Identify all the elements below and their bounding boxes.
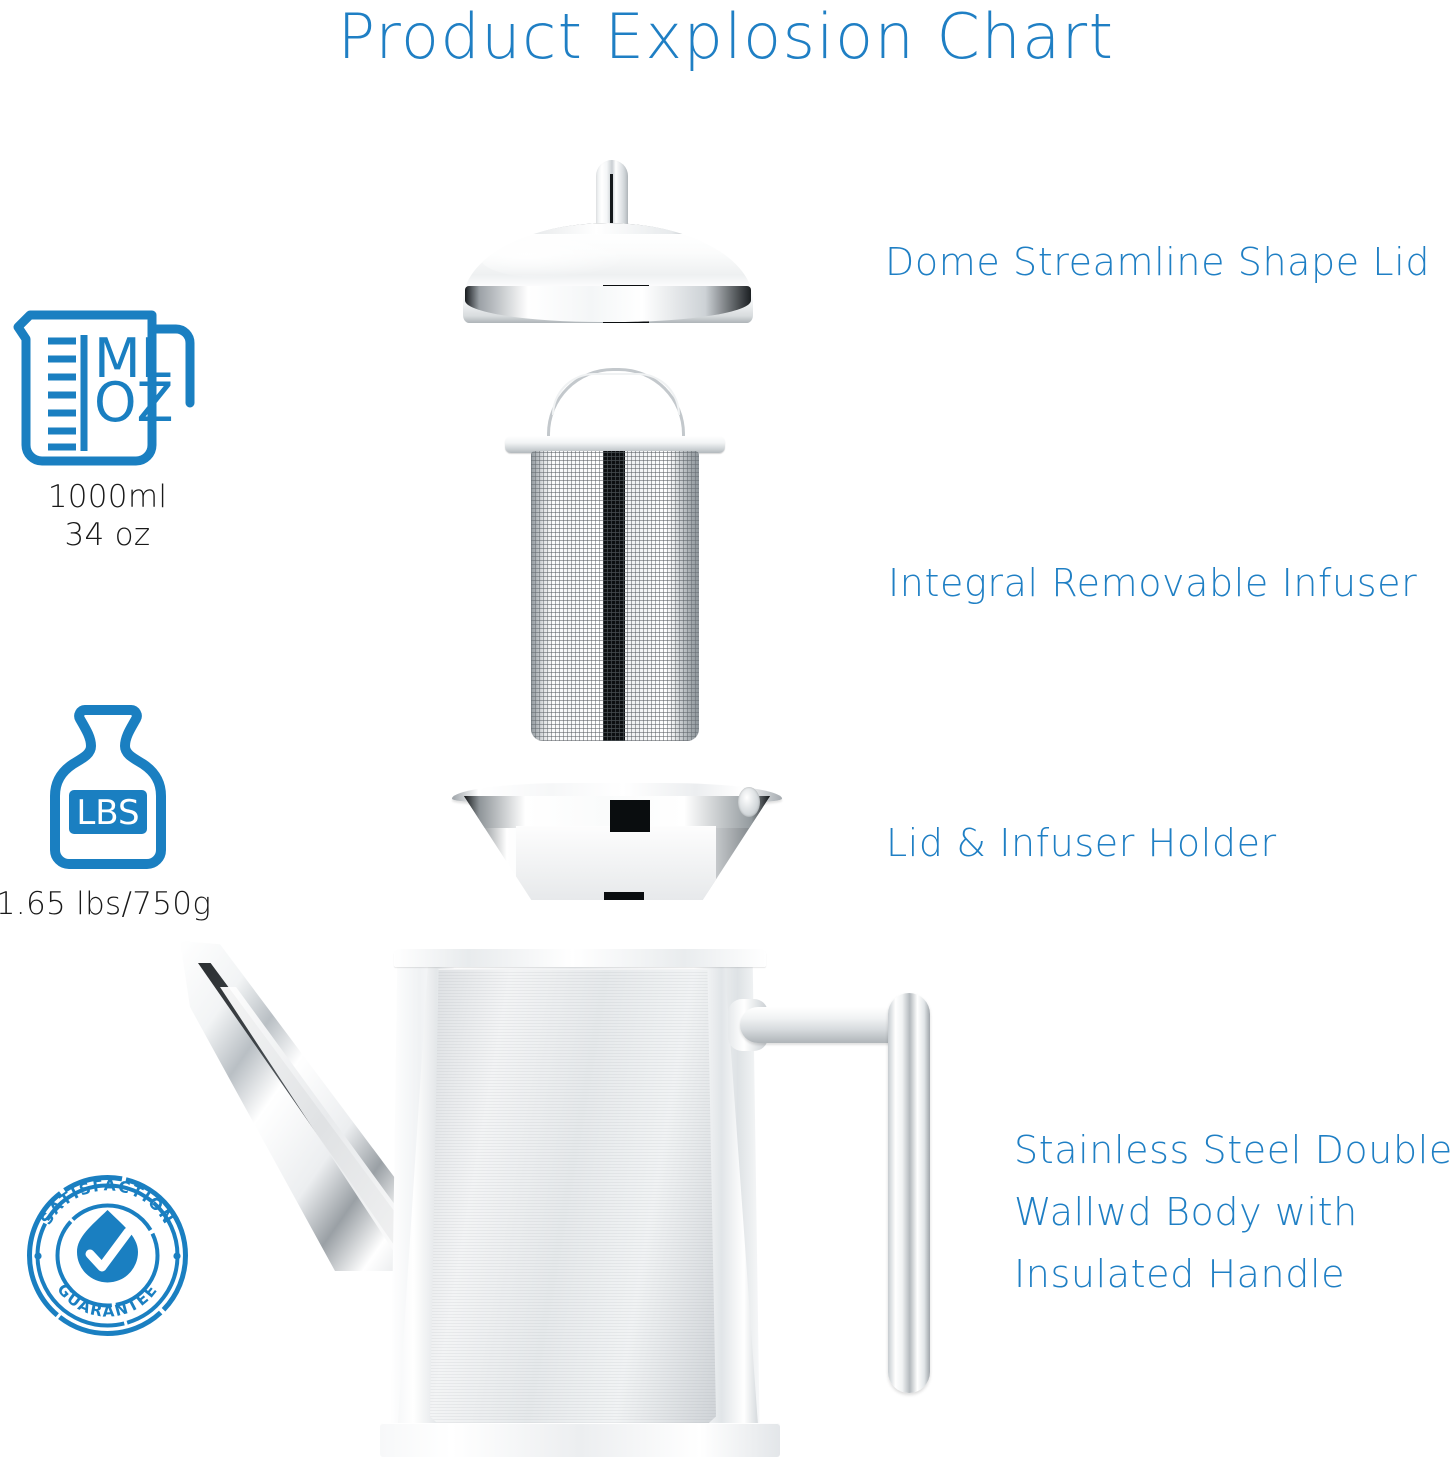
spec-weight: LBS 1.65 lbs/750g — [0, 690, 215, 923]
spec-volume-value-2: 34 oz — [0, 516, 215, 554]
holder-bottom-dark-reflection — [604, 892, 644, 900]
product-explosion-chart: Product Explosion Chart ML — [0, 0, 1452, 1457]
lid-dome-highlight — [481, 239, 631, 279]
holder-matte-inner — [516, 826, 716, 900]
kettle-handle-grip-bar — [888, 993, 930, 1393]
measuring-cup-icon-wrap: ML OZ — [0, 288, 215, 478]
callout-label-holder: Lid & Infuser Holder — [886, 821, 1277, 865]
holder-side-knob — [738, 787, 760, 817]
infuser-mesh-basket — [531, 451, 699, 741]
callout-label-infuser: Integral Removable Infuser — [888, 561, 1417, 605]
callout-label-body-line3: Insulated Handle — [1014, 1243, 1452, 1305]
spec-volume-value-1: 1000ml — [0, 478, 215, 516]
guarantee-droplet-shape — [77, 1210, 138, 1282]
product-part-lid-infuser-holder — [452, 783, 782, 908]
kettle-base-rim — [380, 1423, 780, 1457]
satisfaction-guarantee-badge: SATISFACTION GUARANTEE — [20, 1168, 195, 1343]
holder-dark-reflection — [610, 800, 650, 832]
callout-label-body-line1: Stainless Steel Double — [1014, 1119, 1452, 1181]
lid-dome-rim-reflection — [463, 223, 753, 234]
weight-icon: LBS — [33, 698, 183, 878]
callout-label-dome-lid: Dome Streamline Shape Lid — [885, 240, 1430, 284]
spec-weight-value-1: 1.65 lbs/750g — [0, 885, 215, 923]
product-part-removable-infuser — [505, 368, 725, 748]
spec-volume: ML OZ 1000ml 34 oz — [0, 288, 215, 554]
weight-lbs-label: LBS — [76, 793, 139, 833]
measuring-cup-icon: ML OZ — [8, 293, 208, 473]
holder-cone — [464, 796, 770, 900]
page-title: Product Explosion Chart — [0, 2, 1452, 72]
infuser-center-dark-reflection — [603, 451, 625, 741]
infuser-left-shading — [531, 451, 553, 741]
weight-icon-wrap: LBS — [0, 690, 215, 885]
callout-label-body-line2: Wallwd Body with — [1014, 1181, 1452, 1243]
infuser-right-shading — [673, 451, 699, 741]
kettle-top-rim — [394, 949, 766, 967]
kettle-brushed-steel-panel — [430, 969, 716, 1435]
callout-label-body: Stainless Steel Double Wallwd Body with … — [1014, 1119, 1452, 1305]
product-part-dome-lid — [455, 160, 760, 325]
satisfaction-guarantee-stamp-icon: SATISFACTION GUARANTEE — [20, 1168, 195, 1343]
measuring-cup-oz-label: OZ — [94, 371, 174, 434]
product-part-kettle-body — [180, 935, 980, 1457]
